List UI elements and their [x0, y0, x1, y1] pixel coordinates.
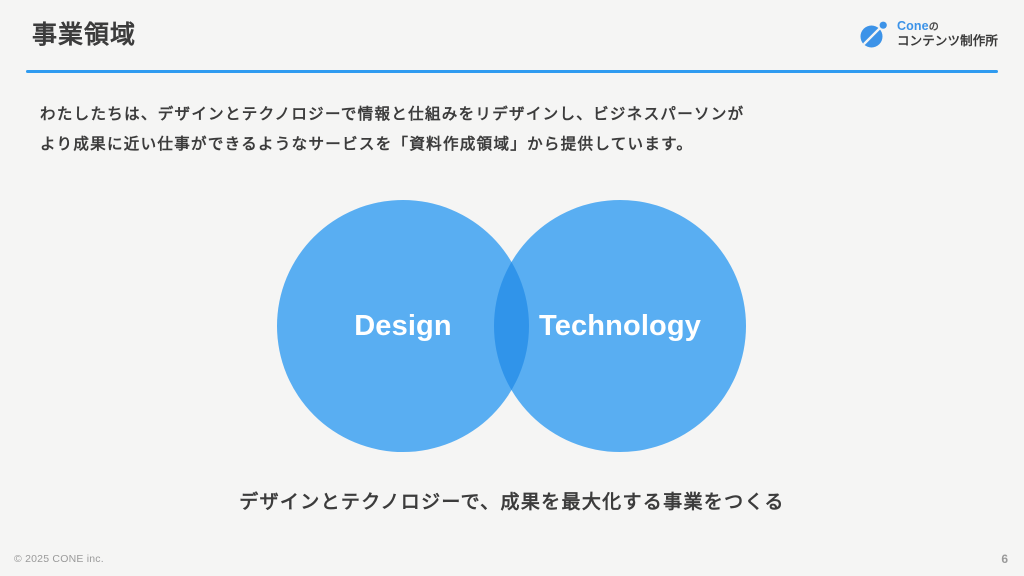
logo-brand-name: Cone	[897, 19, 929, 33]
slide-canvas: 事業領域 Coneの コンテンツ制作所 わたしたちは、デザインとテクノロジーで情…	[0, 0, 1024, 576]
logo-line-1: Coneの	[897, 19, 998, 34]
venn-caption: デザインとテクノロジーで、成果を最大化する事業をつくる	[0, 487, 1024, 514]
venn-diagram: Design Technology	[277, 200, 746, 452]
logo-wordmark: Coneの コンテンツ制作所	[897, 19, 998, 49]
venn-label-design: Design	[277, 200, 529, 452]
brand-logo: Coneの コンテンツ制作所	[859, 19, 998, 49]
lead-paragraph: わたしたちは、デザインとテクノロジーで情報と仕組みをリデザインし、ビジネスパーソ…	[40, 100, 980, 160]
venn-label-technology: Technology	[494, 200, 746, 452]
logo-line-2: コンテンツ制作所	[897, 34, 998, 49]
page-title: 事業領域	[32, 20, 136, 50]
lead-line-1: わたしたちは、デザインとテクノロジーで情報と仕組みをリデザインし、ビジネスパーソ…	[40, 100, 980, 130]
title-divider	[26, 70, 998, 73]
cone-logo-mark-icon	[859, 19, 889, 49]
footer-page-number: 6	[1001, 552, 1008, 566]
logo-brand-suffix: の	[929, 22, 939, 33]
lead-line-2: より成果に近い仕事ができるようなサービスを「資料作成領域」から提供しています。	[40, 130, 980, 160]
footer-copyright: © 2025 CONE inc.	[14, 553, 104, 565]
